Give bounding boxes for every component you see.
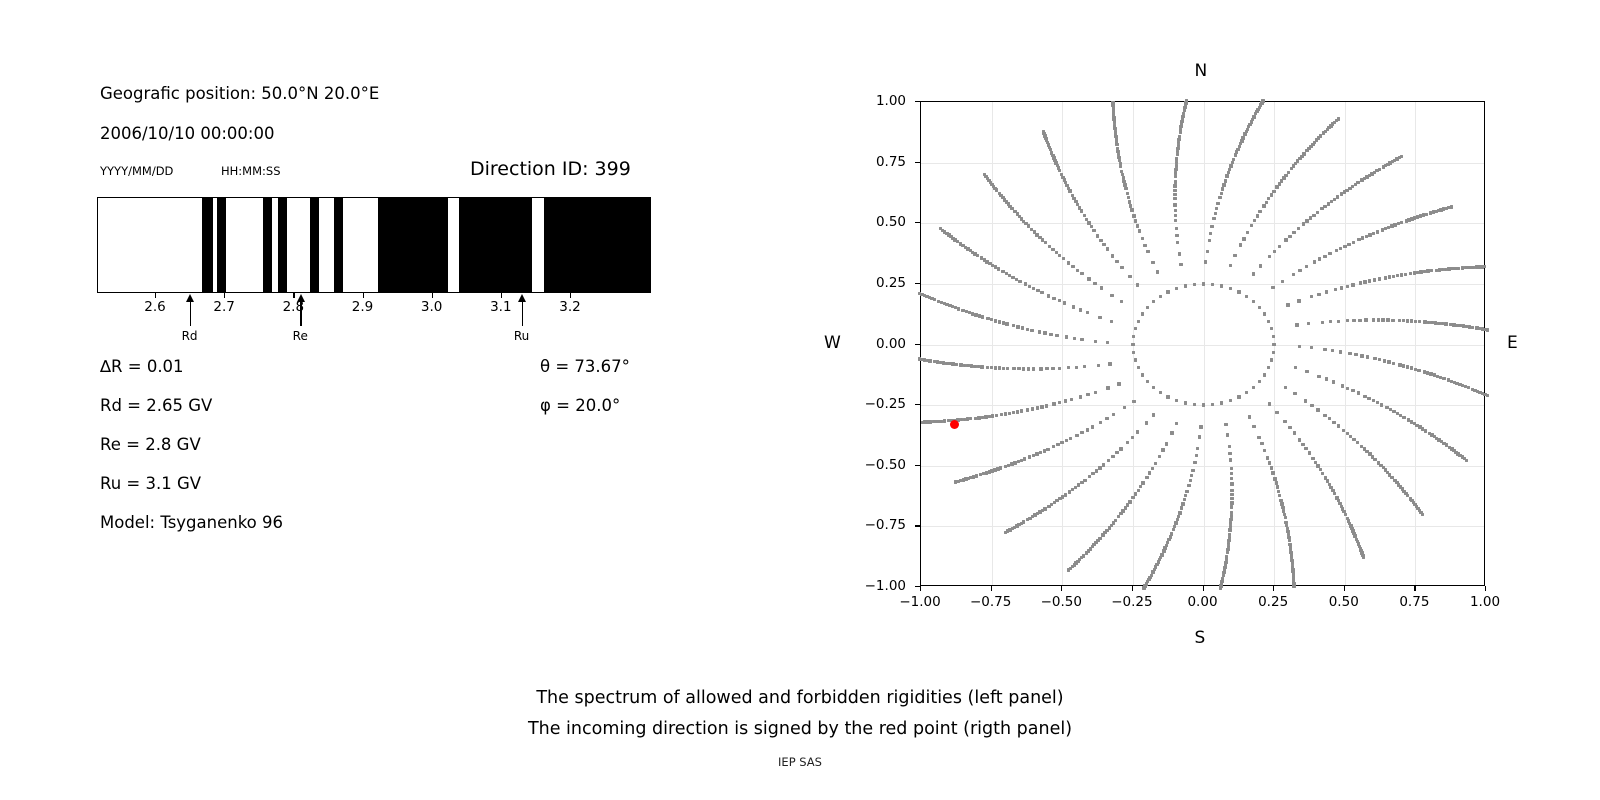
direction-point [1292, 584, 1295, 587]
direction-point [1363, 395, 1366, 398]
direction-point [1270, 193, 1273, 196]
direction-point [1310, 404, 1313, 407]
direction-point [1120, 266, 1123, 269]
direction-point [1202, 282, 1205, 285]
forbidden-band [378, 198, 448, 292]
direction-point [1425, 213, 1428, 216]
direction-point [1068, 490, 1071, 493]
direction-point [1126, 441, 1129, 444]
y-axis-tick [915, 465, 920, 466]
geographic-position-label: Geografic position: 50.0°N 20.0°E [100, 84, 379, 103]
direction-point [1152, 300, 1155, 303]
direction-point [1297, 299, 1300, 302]
direction-point [1143, 244, 1146, 247]
direction-point [1442, 377, 1445, 380]
direction-point [1012, 411, 1015, 414]
direction-point [1105, 417, 1108, 420]
parameter-right: φ = 20.0° [540, 396, 620, 415]
direction-point [1467, 386, 1470, 389]
direction-point [1216, 202, 1219, 205]
direction-point [1185, 99, 1188, 102]
direction-point [988, 415, 991, 418]
direction-point [1162, 549, 1165, 552]
direction-point [1175, 227, 1178, 230]
direction-point [1377, 318, 1380, 321]
direction-point [1173, 197, 1176, 200]
direction-point [1294, 366, 1297, 369]
direction-point [1028, 285, 1031, 288]
direction-point [1002, 321, 1005, 324]
y-axis-tick [915, 344, 920, 345]
direction-point [1312, 214, 1315, 217]
direction-point [1174, 209, 1177, 212]
direction-point [1409, 272, 1412, 275]
direction-point [966, 417, 969, 420]
direction-point [1418, 320, 1421, 323]
direction-point [1288, 539, 1291, 542]
direction-point [1107, 459, 1110, 462]
direction-point [937, 300, 940, 303]
direction-point [1094, 340, 1097, 343]
direction-point [1352, 241, 1355, 244]
time-format-hint: HH:MM:SS [221, 164, 281, 178]
direction-point [991, 414, 994, 417]
direction-point [1190, 474, 1193, 477]
direction-point [1298, 345, 1301, 348]
direction-point [1129, 204, 1132, 207]
direction-point [1064, 399, 1067, 402]
spectrum-tick-label: 2.7 [194, 299, 254, 315]
direction-point [1229, 264, 1232, 267]
direction-point [1097, 364, 1100, 367]
direction-point [986, 366, 989, 369]
spectrum-tick [501, 293, 502, 298]
direction-point [998, 320, 1001, 323]
direction-point [1064, 493, 1067, 496]
direction-point [994, 265, 997, 268]
direction-point [1036, 406, 1039, 409]
direction-point [1121, 173, 1124, 176]
direction-point [1245, 391, 1248, 394]
compass-label-south: S [1195, 628, 1206, 648]
direction-point [959, 363, 962, 366]
direction-point [1237, 290, 1240, 293]
direction-point [1277, 490, 1280, 493]
direction-point [1204, 260, 1207, 263]
direction-point [1102, 463, 1105, 466]
direction-point [1111, 254, 1114, 257]
direction-point [1177, 141, 1180, 144]
direction-point [1146, 306, 1149, 309]
direction-point [1178, 252, 1181, 255]
direction-point [1087, 221, 1090, 224]
direction-point [1284, 516, 1287, 519]
direction-point [1337, 117, 1340, 120]
direction-id-label: Direction ID: 399 [470, 158, 631, 180]
direction-point [1179, 128, 1182, 131]
forbidden-band [459, 198, 532, 292]
direction-point [1298, 269, 1301, 272]
direction-point [1392, 362, 1395, 365]
direction-point [1226, 551, 1229, 554]
direction-point [1212, 217, 1215, 220]
direction-point [1114, 130, 1117, 133]
direction-point [1402, 364, 1405, 367]
direction-point [1156, 270, 1159, 273]
marker-arrow-head [186, 294, 194, 302]
direction-point [1127, 196, 1130, 199]
direction-point [1286, 303, 1289, 306]
spectrum-tick-label: 2.8 [263, 299, 323, 315]
direction-point [1398, 319, 1401, 322]
direction-point [1265, 201, 1268, 204]
direction-point [945, 362, 948, 365]
direction-point [1106, 247, 1109, 250]
direction-point [1361, 236, 1364, 239]
direction-point [1083, 214, 1086, 217]
spectrum-tick [363, 293, 364, 298]
date-format-hint: YYYY/MM/DD [100, 164, 173, 178]
direction-point [939, 361, 942, 364]
direction-point [926, 359, 929, 362]
direction-point [1175, 234, 1178, 237]
direction-point [1134, 358, 1137, 361]
direction-point [1332, 380, 1335, 383]
direction-point [1339, 350, 1342, 353]
direction-point [1030, 228, 1033, 231]
direction-point [1146, 380, 1149, 383]
direction-point [1176, 147, 1179, 150]
direction-point [1183, 498, 1186, 501]
direction-point [1177, 138, 1180, 141]
direction-point [1362, 556, 1365, 559]
direction-point [1182, 112, 1185, 115]
direction-point [1225, 174, 1228, 177]
direction-point [1228, 445, 1231, 448]
direction-point [1038, 330, 1041, 333]
forbidden-band [278, 198, 287, 292]
direction-point [975, 474, 978, 477]
direction-point [1072, 305, 1075, 308]
direction-point [1332, 421, 1335, 424]
spectrum-tick-label: 2.9 [333, 299, 393, 315]
direction-point [1055, 251, 1058, 254]
direction-point [1335, 249, 1338, 252]
direction-point [1267, 197, 1270, 200]
direction-point [1027, 367, 1030, 370]
direction-point [974, 417, 977, 420]
direction-point [1137, 489, 1140, 492]
direction-point [1173, 203, 1176, 206]
direction-point [1005, 272, 1008, 275]
direction-point [1293, 431, 1296, 434]
direction-point [1284, 386, 1287, 389]
forbidden-band [544, 198, 651, 292]
direction-point [1252, 272, 1255, 275]
direction-point [1230, 501, 1233, 504]
direction-point [1148, 471, 1151, 474]
direction-point [1086, 393, 1089, 396]
direction-point [1044, 241, 1047, 244]
direction-point [1055, 334, 1058, 337]
direction-point [1079, 395, 1082, 398]
direction-point [1131, 343, 1134, 346]
direction-point [1346, 285, 1349, 288]
direction-point [1174, 175, 1177, 178]
direction-point [1209, 232, 1212, 235]
direction-point [1364, 318, 1367, 321]
direction-point [1110, 320, 1113, 323]
y-axis-tick-label: 0.25 [840, 275, 906, 291]
direction-point [1237, 395, 1240, 398]
direction-point [1130, 208, 1133, 211]
direction-point [1230, 477, 1233, 480]
direction-point [1366, 355, 1369, 358]
direction-point [1262, 204, 1265, 207]
direction-point [1404, 273, 1407, 276]
x-axis-tick [920, 586, 921, 591]
direction-point [1215, 207, 1218, 210]
direction-point [1486, 394, 1489, 397]
direction-point [1258, 306, 1261, 309]
direction-point [1181, 502, 1184, 505]
direction-point [1006, 367, 1009, 370]
marker-arrow-label: Rd [170, 329, 210, 343]
direction-point [1400, 221, 1403, 224]
direction-point [1272, 351, 1275, 354]
direction-point [1343, 245, 1346, 248]
direction-point [1060, 441, 1063, 444]
direction-point [1056, 443, 1059, 446]
direction-point [1246, 231, 1249, 234]
incoming-direction-marker [950, 420, 959, 429]
direction-point [1211, 403, 1214, 406]
direction-point [1346, 319, 1349, 322]
x-axis-tick-label: 0.50 [1309, 594, 1379, 610]
direction-point [1233, 254, 1236, 257]
direction-point [1165, 442, 1168, 445]
direction-point [983, 173, 986, 176]
direction-point [1060, 173, 1063, 176]
direction-point [1221, 187, 1224, 190]
direction-point [1173, 189, 1176, 192]
direction-point [1137, 366, 1140, 369]
direction-point [1316, 408, 1319, 411]
direction-point [1354, 353, 1357, 356]
direction-point [971, 312, 974, 315]
direction-point [954, 306, 957, 309]
direction-point [1378, 358, 1381, 361]
x-axis-tick [1485, 586, 1486, 591]
direction-point [1180, 506, 1183, 509]
direction-point [1047, 294, 1050, 297]
forbidden-band [334, 198, 343, 292]
direction-point [1301, 443, 1304, 446]
direction-point [1318, 257, 1321, 260]
direction-point [1325, 377, 1328, 380]
direction-point [1166, 290, 1169, 293]
direction-point [1072, 197, 1075, 200]
direction-point [1224, 423, 1227, 426]
direction-point [1196, 447, 1199, 450]
direction-point [962, 478, 965, 481]
direction-point [1406, 365, 1409, 368]
caption-line-1: The spectrum of allowed and forbidden ri… [0, 688, 1600, 708]
direction-point [997, 267, 1000, 270]
direction-point [1065, 335, 1068, 338]
direction-point [1273, 477, 1276, 480]
direction-point [1291, 561, 1294, 564]
direction-point [1098, 316, 1101, 319]
direction-point [1304, 447, 1307, 450]
direction-point [1310, 295, 1313, 298]
direction-point [1146, 250, 1149, 253]
direction-point [1022, 367, 1025, 370]
direction-point [1091, 425, 1094, 428]
spectrum-axis-line [97, 292, 651, 293]
direction-point [1293, 392, 1296, 395]
direction-point [1015, 278, 1018, 281]
direction-point [1100, 286, 1103, 289]
direction-point [1230, 467, 1233, 470]
direction-point [1198, 435, 1201, 438]
direction-point [1067, 187, 1070, 190]
direction-point [1323, 414, 1326, 417]
direction-point [981, 416, 984, 419]
direction-point [1052, 445, 1055, 448]
direction-point [1124, 187, 1127, 190]
direction-point [968, 311, 971, 314]
direction-point [1099, 421, 1102, 424]
direction-point [1210, 225, 1213, 228]
direction-point [918, 357, 921, 360]
y-axis-tick-label: 0.50 [840, 214, 906, 230]
direction-point [1175, 422, 1178, 425]
y-axis-tick [915, 283, 920, 284]
direction-point [1032, 454, 1035, 457]
direction-point [1372, 232, 1375, 235]
gridline-horizontal [921, 526, 1484, 527]
direction-point [1346, 387, 1349, 390]
direction-point [1258, 380, 1261, 383]
direction-point [1341, 384, 1344, 387]
direction-point [980, 365, 983, 368]
direction-point [1271, 471, 1274, 474]
x-axis-tick [1273, 586, 1274, 591]
direction-point [1305, 265, 1308, 268]
direction-point [1331, 349, 1334, 352]
direction-point [1026, 328, 1029, 331]
direction-point [1252, 386, 1255, 389]
direction-point [1410, 366, 1413, 369]
direction-point [1137, 320, 1140, 323]
direction-point [1450, 205, 1453, 208]
direction-point [978, 314, 981, 317]
direction-point [1368, 279, 1371, 282]
direction-point [1176, 153, 1179, 156]
direction-point [1073, 337, 1076, 340]
gridline-vertical [992, 102, 993, 585]
direction-point [1152, 413, 1155, 416]
direction-point [1278, 182, 1281, 185]
x-axis-tick-label: −0.75 [956, 594, 1026, 610]
direction-point [1145, 476, 1148, 479]
direction-point [1378, 277, 1381, 280]
direction-point [1017, 460, 1020, 463]
direction-point [1117, 515, 1120, 518]
direction-point [1061, 176, 1064, 179]
direction-point [1179, 263, 1182, 266]
direction-point [1359, 281, 1362, 284]
direction-point [1398, 363, 1401, 366]
forbidden-band [263, 198, 272, 292]
direction-point [1220, 284, 1223, 287]
direction-point [1193, 403, 1196, 406]
direction-point [1083, 479, 1086, 482]
marker-arrow-stem [300, 300, 301, 326]
direction-point [1093, 282, 1096, 285]
direction-point [1305, 370, 1308, 373]
x-axis-tick [1344, 586, 1345, 591]
direction-point [1340, 286, 1343, 289]
direction-point [1305, 219, 1308, 222]
y-axis-tick [915, 101, 920, 102]
direction-point [1270, 466, 1273, 469]
direction-point [1222, 183, 1225, 186]
spectrum-panel: Geografic position: 50.0°N 20.0°E 2006/1… [0, 0, 760, 620]
direction-point [1079, 308, 1082, 311]
direction-point [1119, 162, 1122, 165]
direction-point [1336, 195, 1339, 198]
direction-point [1229, 164, 1232, 167]
direction-point [983, 258, 986, 261]
direction-point [918, 292, 921, 295]
direction-point [1040, 405, 1043, 408]
direction-point [1052, 402, 1055, 405]
direction-point [1119, 512, 1122, 515]
direction-point [1328, 252, 1331, 255]
direction-point [940, 301, 943, 304]
direction-point [1026, 518, 1029, 521]
direction-point [1275, 481, 1278, 484]
direction-point [1159, 295, 1162, 298]
direction-point [1020, 459, 1023, 462]
direction-point [1344, 513, 1347, 516]
direction-point [1242, 237, 1245, 240]
direction-point [1119, 447, 1122, 450]
direction-point [1373, 278, 1376, 281]
direction-point [1325, 290, 1328, 293]
direction-point [1085, 551, 1088, 554]
marker-arrow-label: Ru [502, 329, 542, 343]
direction-point [921, 421, 924, 424]
direction-point [1323, 348, 1326, 351]
direction-point [1329, 320, 1332, 323]
direction-point [1268, 255, 1271, 258]
direction-point [1128, 275, 1131, 278]
direction-point [994, 319, 997, 322]
direction-point [1145, 421, 1148, 424]
direction-point [1211, 283, 1214, 286]
direction-point [1189, 479, 1192, 482]
direction-point [990, 318, 993, 321]
direction-point [1406, 319, 1409, 322]
forbidden-band [202, 198, 213, 292]
direction-point [1080, 481, 1083, 484]
y-axis-tick-label: −1.00 [840, 578, 906, 594]
direction-point [1094, 391, 1097, 394]
direction-point [1226, 433, 1229, 436]
